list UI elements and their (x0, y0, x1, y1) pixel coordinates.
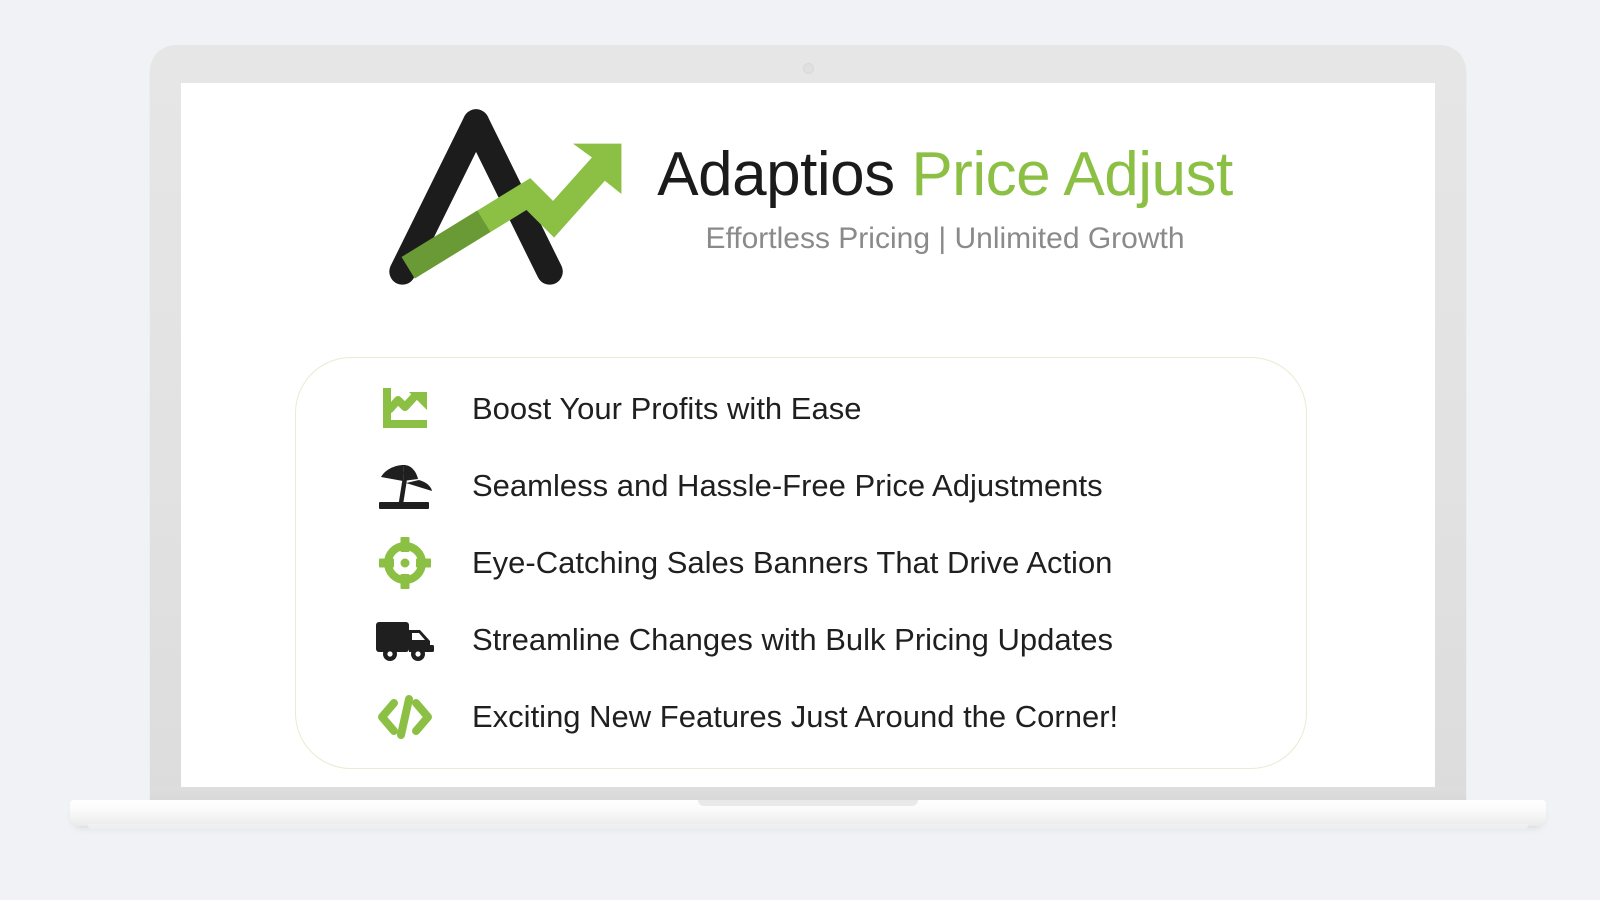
feature-list-card: Boost Your Profits with Ease (295, 357, 1307, 769)
brand-name: Adaptios (657, 140, 894, 209)
feature-item-sales-banners: Eye-Catching Sales Banners That Drive Ac… (372, 525, 1306, 602)
laptop-screen: Adaptios Price Adjust Effortless Pricing… (181, 83, 1435, 787)
adaptios-a-growth-arrow-logo (383, 101, 635, 291)
beach-umbrella-icon (372, 460, 438, 512)
laptop-mockup: Adaptios Price Adjust Effortless Pricing… (0, 0, 1600, 900)
code-brackets-icon (372, 691, 438, 743)
product-name: Price Adjust (911, 140, 1232, 209)
brand-tagline: Effortless Pricing | Unlimited Growth (657, 222, 1232, 256)
crosshair-target-icon (372, 537, 438, 589)
page-title: Adaptios Price Adjust (657, 142, 1232, 207)
feature-label: Streamline Changes with Bulk Pricing Upd… (472, 621, 1113, 658)
feature-item-boost-profits: Boost Your Profits with Ease (372, 371, 1306, 448)
screen-content: Adaptios Price Adjust Effortless Pricing… (181, 83, 1435, 787)
feature-item-seamless-adjustments: Seamless and Hassle-Free Price Adjustmen… (372, 448, 1306, 525)
feature-item-new-features: Exciting New Features Just Around the Co… (372, 679, 1306, 756)
feature-item-bulk-pricing: Streamline Changes with Bulk Pricing Upd… (372, 602, 1306, 679)
feature-label: Eye-Catching Sales Banners That Drive Ac… (472, 544, 1112, 581)
feature-label: Boost Your Profits with Ease (472, 390, 861, 427)
laptop-lid: Adaptios Price Adjust Effortless Pricing… (150, 45, 1466, 805)
delivery-truck-icon (372, 614, 438, 666)
laptop-foot (88, 824, 1528, 831)
laptop-base-notch (698, 800, 918, 806)
chart-line-up-icon (372, 383, 438, 435)
brand-header: Adaptios Price Adjust Effortless Pricing… (181, 101, 1435, 291)
laptop-base (70, 800, 1546, 826)
feature-label: Exciting New Features Just Around the Co… (472, 698, 1118, 735)
feature-label: Seamless and Hassle-Free Price Adjustmen… (472, 467, 1103, 504)
brand-text-block: Adaptios Price Adjust Effortless Pricing… (657, 136, 1232, 255)
webcam-icon (803, 63, 814, 74)
